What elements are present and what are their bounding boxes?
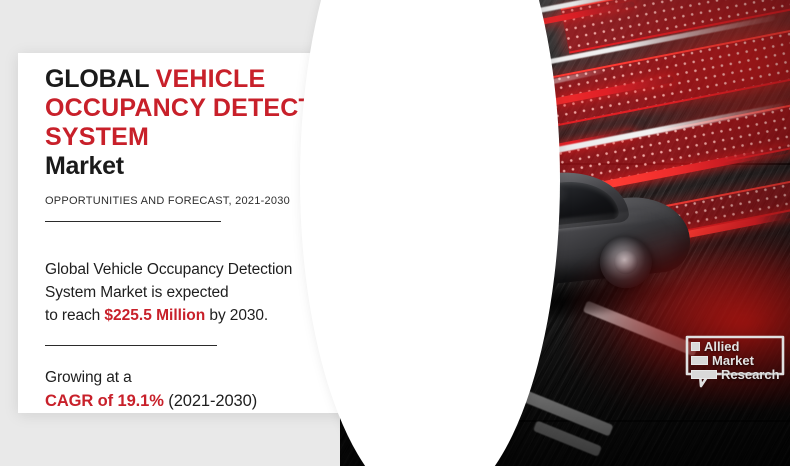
- title-lead: GLOBAL: [45, 65, 156, 93]
- logo-row: Market: [691, 355, 780, 366]
- cagr-period: (2021-2030): [164, 392, 257, 410]
- stat-suffix: by 2030.: [205, 307, 268, 324]
- card-curved-edge: [300, 0, 560, 466]
- logo-bar-small-icon: [691, 342, 700, 351]
- logo-rows: Allied Market Research: [691, 341, 780, 380]
- logo-text-research: Research: [721, 369, 780, 380]
- logo-row: Research: [691, 369, 780, 380]
- divider-top: [45, 221, 221, 222]
- cagr-line: CAGR of 19.1% (2021-2030): [45, 389, 375, 413]
- divider-middle: [45, 345, 217, 346]
- allied-market-research-logo: Allied Market Research: [683, 334, 787, 390]
- logo-row: Allied: [691, 341, 780, 352]
- logo-text-market: Market: [712, 355, 754, 366]
- logo-bar-large-icon: [691, 370, 717, 379]
- marketing-banner: Allied Market Research GLOBAL VEHICLE OC…: [0, 0, 790, 466]
- market-value: $225.5 Million: [104, 307, 205, 324]
- logo-text-allied: Allied: [704, 341, 739, 352]
- stat-prefix: to reach: [45, 307, 104, 324]
- logo-bar-medium-icon: [691, 356, 708, 365]
- cagr-value: CAGR of 19.1%: [45, 392, 164, 410]
